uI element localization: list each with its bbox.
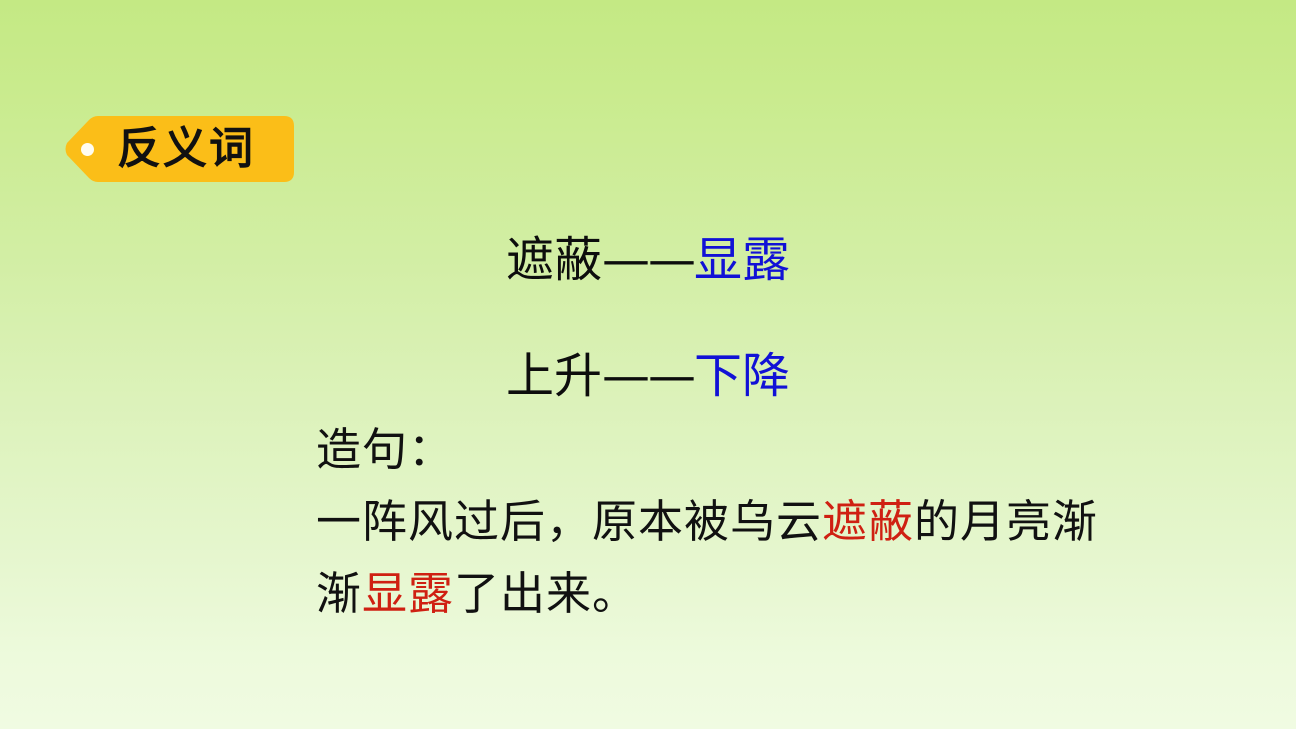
slide-canvas: 反义词 遮蔽——显露 上升——下降 造句： 一阵风过后，原本被乌云遮蔽的月亮渐 … [0, 0, 1296, 729]
example-highlight-word: 显露 [362, 567, 454, 620]
example-sentence-line-2: 渐显露了出来。 [316, 558, 1216, 630]
antonym-dash: —— [602, 232, 694, 288]
antonym-right-word: 下降 [694, 348, 790, 404]
tag-dot-icon [81, 143, 94, 156]
antonym-left-word: 上升 [506, 348, 602, 404]
example-text-segment: 渐 [316, 567, 362, 620]
antonym-dash: —— [602, 348, 694, 404]
section-tag: 反义词 [62, 114, 296, 184]
example-text-segment: 一阵风过后，原本被乌云 [316, 495, 822, 548]
antonym-right-word: 显露 [694, 232, 790, 288]
example-sentence-block: 造句： 一阵风过后，原本被乌云遮蔽的月亮渐 渐显露了出来。 [316, 414, 1216, 630]
antonym-left-word: 遮蔽 [506, 232, 602, 288]
antonym-pair-row: 上升——下降 [0, 350, 1296, 403]
example-sentence-line-1: 一阵风过后，原本被乌云遮蔽的月亮渐 [316, 486, 1216, 558]
example-heading-line: 造句： [316, 414, 1216, 486]
example-text-segment: 的月亮渐 [914, 495, 1098, 548]
tag-label: 反义词 [117, 127, 255, 171]
example-text-segment: 了出来。 [454, 567, 638, 620]
example-heading: 造句： [316, 423, 454, 476]
example-highlight-word: 遮蔽 [822, 495, 914, 548]
antonym-pair-row: 遮蔽——显露 [0, 234, 1296, 287]
